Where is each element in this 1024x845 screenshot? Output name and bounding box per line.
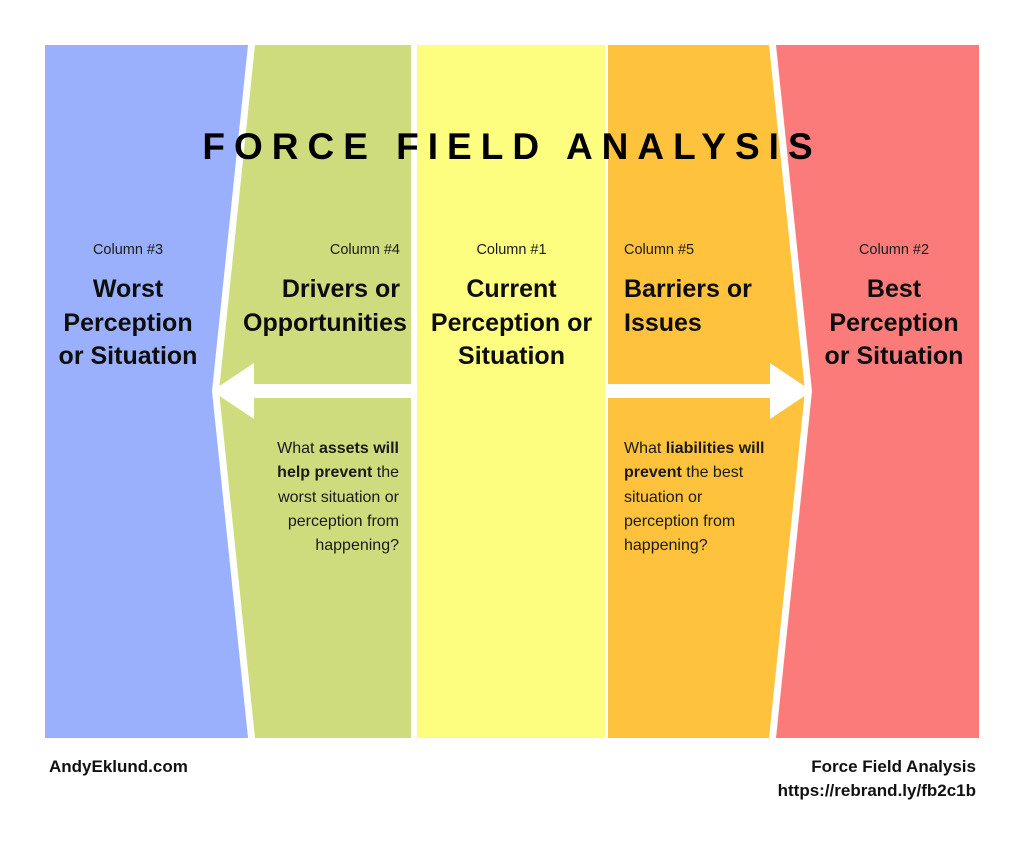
column-drivers-opportunities: Column #4 Drivers or Opportunities — [243, 243, 400, 340]
column-number-label: Column #5 — [624, 243, 779, 259]
footer-attribution: AndyEklund.com — [49, 757, 188, 777]
footer-source-title: Force Field Analysis — [778, 755, 976, 779]
column-barriers-question: What liabilities will prevent the best s… — [624, 437, 774, 559]
column-best-perception: Column #2 Best Perception or Situation — [818, 243, 970, 374]
footer-source-url: https://rebrand.ly/fb2c1b — [778, 779, 976, 803]
column-barriers-issues: Column #5 Barriers or Issues — [624, 243, 779, 340]
column-heading: Worst Perception or Situation — [52, 273, 204, 374]
column-number-label: Column #2 — [818, 243, 970, 259]
column-heading: Drivers or Opportunities — [243, 273, 400, 341]
column-heading: Best Perception or Situation — [818, 273, 970, 374]
column-heading: Current Perception or Situation — [424, 273, 599, 374]
column-heading: Barriers or Issues — [624, 273, 779, 341]
column-number-label: Column #4 — [243, 243, 400, 259]
column-drivers-question: What assets will help prevent the worst … — [249, 437, 399, 559]
column-question-text: What liabilities will prevent the best s… — [624, 437, 774, 559]
column-number-label: Column #1 — [424, 243, 599, 259]
footer-source: Force Field Analysis https://rebrand.ly/… — [778, 755, 976, 803]
page-title: FORCE FIELD ANALYSIS — [0, 126, 1024, 168]
force-field-analysis-diagram: FORCE FIELD ANALYSIS Column #3 Worst Per… — [0, 0, 1024, 845]
column-worst-perception: Column #3 Worst Perception or Situation — [52, 243, 204, 374]
column-current-perception: Column #1 Current Perception or Situatio… — [424, 243, 599, 374]
column-question-text: What assets will help prevent the worst … — [249, 437, 399, 559]
column-number-label: Column #3 — [52, 243, 204, 259]
